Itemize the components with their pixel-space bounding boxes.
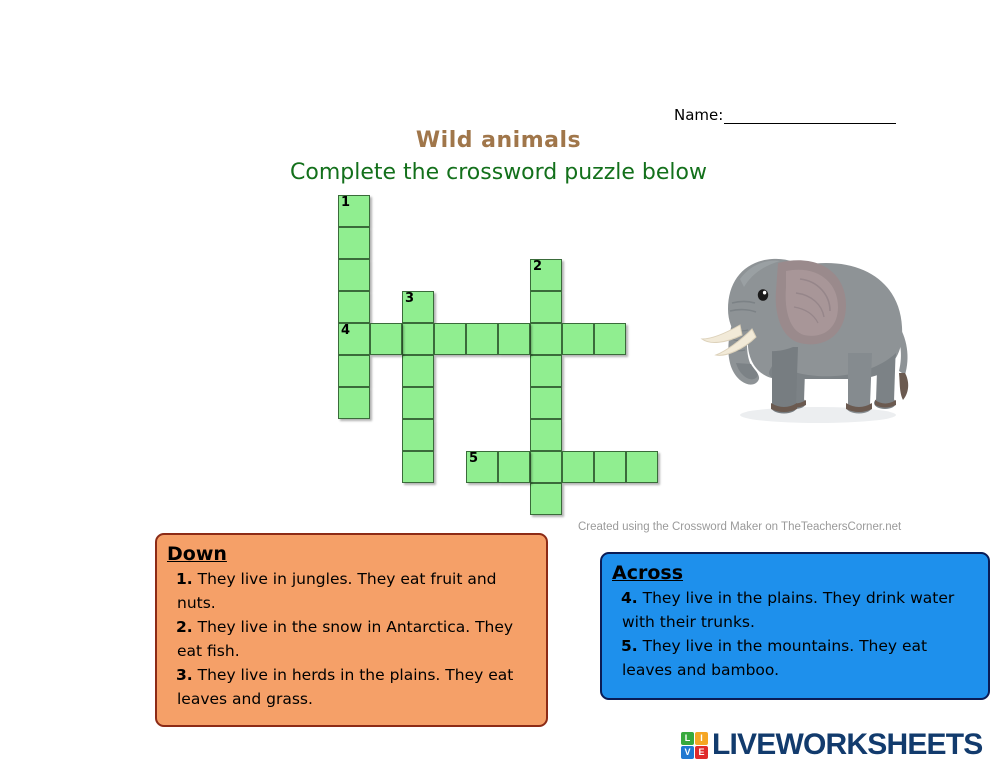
page-title: Wild animals: [0, 128, 999, 153]
live-tiles: LIVE: [681, 732, 708, 759]
across-clue-number: 5.: [621, 637, 638, 655]
down-clue-text: They live in jungles. They eat fruit and…: [177, 570, 497, 612]
crossword-cell[interactable]: [594, 323, 626, 355]
across-clue-text: They live in the plains. They drink wate…: [622, 589, 954, 631]
down-clue-number: 3.: [176, 666, 193, 684]
logo-tile-i: I: [695, 732, 708, 745]
across-clue-number: 4.: [621, 589, 638, 607]
across-clue-list: 4. They live in the plains. They drink w…: [612, 586, 974, 682]
crossword-cell[interactable]: [338, 291, 370, 323]
crossword-cell[interactable]: [434, 323, 466, 355]
crossword-cell[interactable]: [562, 323, 594, 355]
crossword-cell[interactable]: 4: [338, 323, 370, 355]
crossword-cell[interactable]: [402, 387, 434, 419]
liveworksheets-wordmark: LIVEWORKSHEETS: [712, 730, 983, 760]
cell-number-3: 3: [405, 292, 414, 306]
crossword-cell[interactable]: [562, 451, 594, 483]
crossword-cell[interactable]: [338, 227, 370, 259]
elephant-illustration: [700, 243, 930, 428]
crossword-cell[interactable]: [402, 323, 434, 355]
crossword-cell[interactable]: [530, 355, 562, 387]
crossword-grid: 14325: [338, 195, 678, 525]
down-clue-1: 1. They live in jungles. They eat fruit …: [167, 567, 532, 615]
cell-number-5: 5: [469, 452, 478, 466]
crossword-cell[interactable]: [402, 419, 434, 451]
crossword-cell[interactable]: [338, 259, 370, 291]
crossword-cell[interactable]: 5: [466, 451, 498, 483]
across-clue-text: They live in the mountains. They eat lea…: [622, 637, 927, 679]
cell-number-4: 4: [341, 324, 350, 338]
crossword-cell[interactable]: [498, 451, 530, 483]
attribution-text: Created using the Crossword Maker on The…: [578, 521, 901, 533]
crossword-cell[interactable]: 2: [530, 259, 562, 291]
down-clues-box: Down 1. They live in jungles. They eat f…: [155, 533, 548, 727]
crossword-cell[interactable]: [530, 291, 562, 323]
crossword-cell[interactable]: [530, 483, 562, 515]
crossword-cell[interactable]: [594, 451, 626, 483]
cell-number-1: 1: [341, 196, 350, 210]
down-clue-text: They live in the snow in Antarctica. The…: [177, 618, 513, 660]
name-input-blank[interactable]: [724, 108, 896, 124]
crossword-cell[interactable]: [530, 387, 562, 419]
down-clue-list: 1. They live in jungles. They eat fruit …: [167, 567, 532, 711]
crossword-cell[interactable]: [402, 355, 434, 387]
crossword-cell[interactable]: [402, 451, 434, 483]
crossword-cell[interactable]: [530, 451, 562, 483]
across-heading: Across: [612, 562, 974, 585]
logo-tile-e: E: [695, 746, 708, 759]
crossword-cell[interactable]: [626, 451, 658, 483]
logo-tile-v: V: [681, 746, 694, 759]
across-clue-4: 4. They live in the plains. They drink w…: [612, 586, 974, 634]
cell-number-2: 2: [533, 260, 542, 274]
crossword-cell[interactable]: [338, 387, 370, 419]
crossword-cell[interactable]: [498, 323, 530, 355]
down-clue-text: They live in herds in the plains. They e…: [177, 666, 513, 708]
crossword-cell[interactable]: 1: [338, 195, 370, 227]
crossword-cell[interactable]: [530, 323, 562, 355]
name-field-row: Name:: [674, 106, 896, 124]
page-subtitle: Complete the crossword puzzle below: [0, 160, 999, 185]
liveworksheets-logo: LIVE LIVEWORKSHEETS: [681, 730, 983, 760]
down-clue-number: 1.: [176, 570, 193, 588]
crossword-cell[interactable]: [370, 323, 402, 355]
crossword-cell[interactable]: 3: [402, 291, 434, 323]
name-label: Name:: [674, 106, 723, 124]
across-clues-box: Across 4. They live in the plains. They …: [600, 552, 990, 700]
crossword-cell[interactable]: [530, 419, 562, 451]
down-clue-number: 2.: [176, 618, 193, 636]
crossword-cell[interactable]: [466, 323, 498, 355]
logo-tile-l: L: [681, 732, 694, 745]
down-clue-3: 3. They live in herds in the plains. The…: [167, 663, 532, 711]
down-clue-2: 2. They live in the snow in Antarctica. …: [167, 615, 532, 663]
across-clue-5: 5. They live in the mountains. They eat …: [612, 634, 974, 682]
down-heading: Down: [167, 543, 532, 566]
crossword-cell[interactable]: [338, 355, 370, 387]
